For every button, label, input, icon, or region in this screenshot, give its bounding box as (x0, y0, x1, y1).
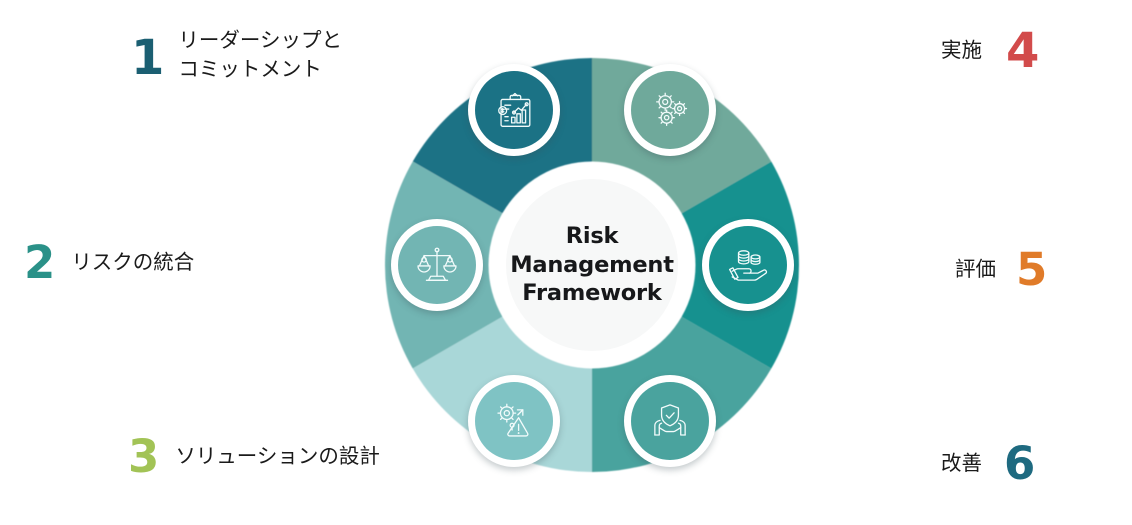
center-title: Risk Management Framework (510, 222, 674, 308)
coins-in-hand-icon (725, 242, 771, 288)
badge-1-fill (475, 71, 553, 149)
label-4-number: 4 (1006, 27, 1039, 75)
badge-5-fill (709, 226, 787, 304)
label-5-text: 評価 (955, 255, 996, 284)
label-1-text: リーダーシップと コミットメント (178, 26, 342, 84)
badge-3-fill (475, 382, 553, 460)
badge-segment-4[interactable] (624, 64, 716, 156)
gears-icon (647, 87, 693, 133)
label-4-text: 実施 (941, 36, 982, 65)
badge-segment-1[interactable] (468, 64, 560, 156)
label-5-number: 5 (1016, 247, 1047, 292)
badge-segment-2[interactable] (391, 219, 483, 311)
badge-segment-3[interactable] (468, 375, 560, 467)
label-2-text: リスクの統合 (71, 248, 194, 277)
label-item-6[interactable]: 改善 6 (941, 441, 1035, 486)
label-3-text: ソリューションの設計 (175, 442, 380, 471)
label-item-4[interactable]: 実施 4 (941, 27, 1039, 75)
badge-segment-6[interactable] (624, 375, 716, 467)
analytics-report-icon (491, 87, 537, 133)
badge-segment-5[interactable] (702, 219, 794, 311)
label-6-text: 改善 (941, 449, 982, 478)
label-item-5[interactable]: 評価 5 (955, 247, 1047, 292)
label-item-1[interactable]: 1 リーダーシップと コミットメント (131, 26, 342, 84)
center-hub: Risk Management Framework (506, 179, 678, 351)
label-item-3[interactable]: 3 ソリューションの設計 (128, 434, 380, 479)
badge-4-fill (631, 71, 709, 149)
gear-warning-icon (491, 398, 537, 444)
label-1-number: 1 (131, 34, 164, 82)
badge-6-fill (631, 382, 709, 460)
label-item-2[interactable]: 2 リスクの統合 (24, 240, 194, 285)
balance-scales-icon (414, 242, 460, 288)
label-6-number: 6 (1004, 441, 1035, 486)
shield-in-hands-icon (647, 398, 693, 444)
label-2-number: 2 (24, 240, 55, 285)
diagram-canvas: Risk Management Framework (0, 0, 1132, 525)
risk-management-donut: Risk Management Framework (385, 58, 799, 472)
label-3-number: 3 (128, 434, 159, 479)
badge-2-fill (398, 226, 476, 304)
